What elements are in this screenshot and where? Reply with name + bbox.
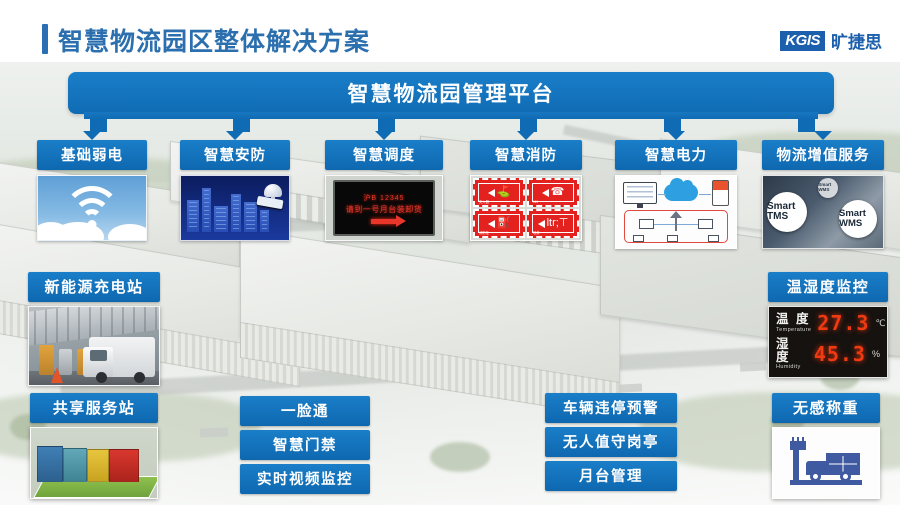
page-title: 智慧物流园区整体解决方案 [58, 22, 370, 58]
chevron-down-icon [83, 131, 101, 140]
truck-window [90, 350, 107, 361]
tag-group-right: 车辆违停预警 无人值守岗亭 月台管理 [545, 393, 677, 491]
container-unit [37, 446, 63, 482]
category-column-weak-current[interactable]: 基础弱电 [37, 140, 147, 241]
humidity-unit: % [872, 349, 880, 359]
dome-camera-icon [264, 184, 282, 197]
category-label-text: 智慧消防 [495, 148, 557, 164]
fire-sign: ⛳ 灭火器 [473, 178, 525, 207]
container-unit [109, 449, 139, 482]
slide-root: 智慧物流园区整体解决方案 KGIS 旷捷思 智慧物流园管理平台 基础弱电 [0, 0, 900, 505]
brand-logo: KGIS 旷捷思 [780, 28, 882, 53]
humidity-row: 湿 度 Humidity 45.3 % [776, 338, 880, 371]
banner-leg [798, 119, 815, 132]
weighbridge-icon-card[interactable] [772, 427, 880, 499]
vehicle [740, 361, 766, 371]
category-label[interactable]: 基础弱电 [37, 140, 147, 170]
temperature-label-cn: 温 度 [776, 313, 811, 326]
gateway-node-icon [639, 219, 654, 229]
shared-service-station-photo[interactable] [30, 427, 158, 499]
category-label[interactable]: 智慧调度 [325, 140, 443, 170]
container-unit [87, 449, 109, 482]
left-arrow-icon [488, 189, 495, 197]
monitor-icon [623, 182, 657, 204]
temperature-row: 温 度 Temperature 27.3 ℃ [776, 313, 880, 333]
panel-weighing[interactable]: 无感称重 [772, 393, 880, 499]
category-label[interactable]: 智慧电力 [615, 140, 737, 170]
chevron-down-icon [814, 131, 832, 140]
led-line-message: 请到一号月台装卸货 [346, 204, 423, 215]
category-thumbnail-power-topology[interactable] [615, 175, 737, 249]
title-accent-bar [42, 24, 48, 54]
banner-connector-bar [84, 112, 818, 119]
category-thumbnail-smart-tms-wms[interactable]: Smart WMS Smart TMS Smart WMS [762, 175, 884, 249]
category-label[interactable]: 物流增值服务 [762, 140, 884, 170]
truck-weighbridge-icon [790, 441, 862, 485]
category-column-value-added[interactable]: 物流增值服务 Smart WMS Smart TMS Smart WMS [762, 140, 884, 249]
traffic-cone-icon [51, 367, 63, 383]
truck-wheel [134, 372, 145, 383]
category-thumbnail-security-camera[interactable] [180, 175, 290, 241]
chevron-down-icon [375, 131, 393, 140]
category-label-text: 物流增值服务 [777, 148, 870, 164]
smart-wms-bubble: Smart WMS [839, 200, 877, 238]
fire-sign: ltr;⊤ 喷淋 [527, 209, 579, 238]
fire-sign-text: 喷淋 [533, 230, 540, 235]
gateway-node-icon [698, 219, 713, 229]
chevron-down-icon [667, 131, 685, 140]
category-column-fire[interactable]: 智慧消防 ⛳ 灭火器 ☎ 119 ⛽ 消防栓 ltr;⊤ 喷淋 [470, 140, 582, 241]
tag-illegal-parking-alert[interactable]: 车辆违停预警 [545, 393, 677, 423]
temp-humidity-display: 温 度 Temperature 27.3 ℃ 湿 度 Humidity 45.3… [768, 306, 888, 378]
smart-tms-bubble: Smart TMS [767, 192, 807, 232]
smart-wms-bubble-small: Smart WMS [818, 178, 838, 198]
category-column-security[interactable]: 智慧安防 [180, 140, 290, 241]
tag-face-pass[interactable]: 一脸通 [240, 396, 370, 426]
vehicle [200, 427, 228, 437]
category-label-text: 基础弱电 [61, 148, 123, 164]
truck-wheel [96, 372, 107, 383]
platform-banner-title: 智慧物流园管理平台 [348, 78, 555, 108]
fire-sign-text: 灭火器 [479, 199, 489, 204]
logo-mark: KGIS [780, 31, 825, 51]
header-bar: 智慧物流园区整体解决方案 KGIS 旷捷思 [0, 0, 900, 62]
panel-label[interactable]: 无感称重 [772, 393, 880, 423]
tag-unmanned-booth[interactable]: 无人值守岗亭 [545, 427, 677, 457]
phone-icon: ☎ [551, 187, 565, 198]
led-line-plate: 沪B 12345 [363, 193, 404, 203]
container-unit [63, 448, 87, 482]
left-arrow-icon [542, 189, 549, 197]
wifi-icon [88, 220, 97, 229]
tag-live-video[interactable]: 实时视频监控 [240, 464, 370, 494]
meter-icon [633, 235, 644, 242]
panel-label[interactable]: 温湿度监控 [768, 272, 888, 302]
humidity-label-en: Humidity [776, 365, 808, 371]
category-label-text: 智慧安防 [204, 148, 266, 164]
hydrant-icon: ⛽ [497, 218, 511, 229]
temperature-value: 27.3 [817, 313, 869, 333]
tag-smart-access[interactable]: 智慧门禁 [240, 430, 370, 460]
fire-sign-text: 消防栓 [479, 230, 489, 235]
panel-shared-service-station[interactable]: 共享服务站 [30, 393, 158, 499]
category-column-power[interactable]: 智慧电力 [615, 140, 737, 249]
meter-icon [667, 235, 678, 242]
temperature-unit: ℃ [875, 318, 885, 329]
logo-name: 旷捷思 [831, 28, 882, 53]
category-thumbnail-led-board[interactable]: 沪B 12345 请到一号月台装卸货 [325, 175, 443, 241]
cloud-icon [664, 184, 698, 201]
right-arrow-icon [371, 219, 397, 224]
extinguisher-icon: ⛳ [497, 187, 511, 198]
tree [430, 442, 490, 472]
platform-banner-body: 智慧物流园管理平台 [68, 72, 834, 114]
mobile-phone-icon [712, 180, 729, 206]
category-label-text: 智慧电力 [645, 148, 707, 164]
category-thumbnail-wifi-cloud[interactable] [37, 175, 147, 241]
panel-temp-humidity[interactable]: 温湿度监控 温 度 Temperature 27.3 ℃ 湿 度 Humidit… [768, 272, 888, 378]
bullet-camera-icon [256, 196, 283, 209]
vehicle [620, 383, 642, 392]
panel-label[interactable]: 新能源充电站 [28, 272, 160, 302]
tag-group-left: 一脸通 智慧门禁 实时视频监控 [240, 396, 370, 494]
fire-sign: ☎ 119 [527, 178, 579, 207]
chevron-down-icon [226, 131, 244, 140]
sprinkler-icon: ltr;⊤ [547, 218, 569, 229]
left-arrow-icon [488, 220, 495, 228]
category-label-text: 智慧调度 [353, 148, 415, 164]
meter-icon [708, 235, 719, 242]
temperature-label-en: Temperature [776, 328, 811, 334]
panel-label[interactable]: 共享服务站 [30, 393, 158, 423]
charging-station-photo[interactable] [28, 306, 160, 386]
chevron-down-icon [517, 131, 535, 140]
platform-banner: 智慧物流园管理平台 [68, 72, 834, 134]
fire-sign: ⛽ 消防栓 [473, 209, 525, 238]
fire-sign-text: 119 [533, 200, 538, 204]
category-column-dispatch[interactable]: 智慧调度 沪B 12345 请到一号月台装卸货 [325, 140, 443, 241]
antenna-icon [675, 216, 677, 231]
led-display: 沪B 12345 请到一号月台装卸货 [333, 180, 435, 235]
tag-dock-management[interactable]: 月台管理 [545, 461, 677, 491]
category-label[interactable]: 智慧消防 [470, 140, 582, 170]
left-arrow-icon [538, 220, 545, 228]
category-thumbnail-fire-signs[interactable]: ⛳ 灭火器 ☎ 119 ⛽ 消防栓 ltr;⊤ 喷淋 [470, 175, 582, 241]
panel-charging-station[interactable]: 新能源充电站 [28, 272, 160, 386]
category-label[interactable]: 智慧安防 [180, 140, 290, 170]
humidity-label-cn: 湿 度 [776, 338, 808, 363]
humidity-value: 45.3 [814, 344, 866, 364]
